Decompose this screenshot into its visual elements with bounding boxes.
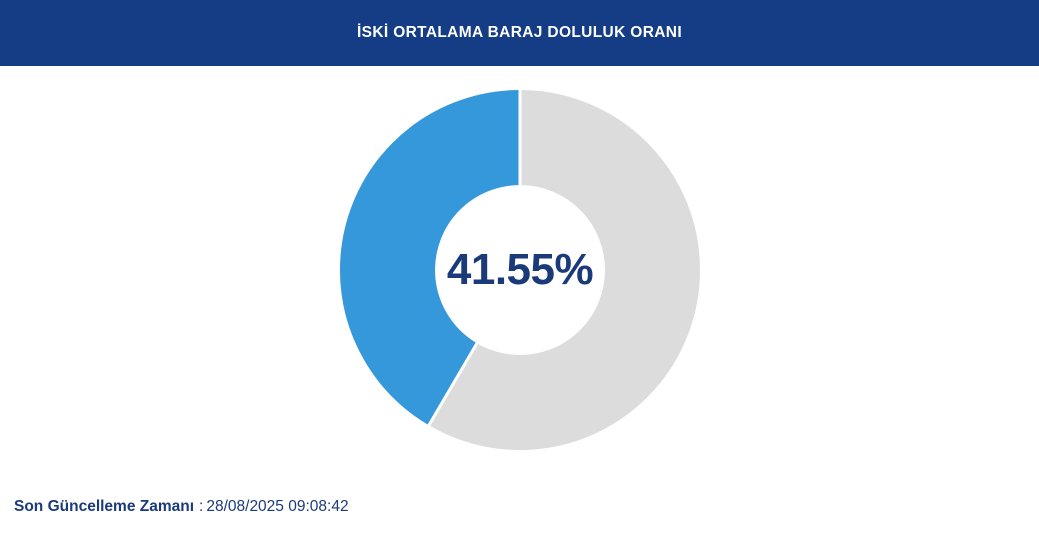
last-update-row: Son Güncelleme Zamanı : 28/08/2025 09:08… <box>14 499 349 515</box>
last-update-label: Son Güncelleme Zamanı <box>14 499 194 515</box>
donut-chart: 41.55% <box>340 90 700 450</box>
page-title: İSKİ ORTALAMA BARAJ DOLULUK ORANI <box>357 25 682 41</box>
page-header: İSKİ ORTALAMA BARAJ DOLULUK ORANI <box>0 0 1039 66</box>
chart-area: 41.55% <box>0 66 1039 466</box>
last-update-value: 28/08/2025 09:08:42 <box>206 499 348 515</box>
donut-chart-svg <box>340 90 700 450</box>
last-update-separator: : <box>194 499 206 515</box>
